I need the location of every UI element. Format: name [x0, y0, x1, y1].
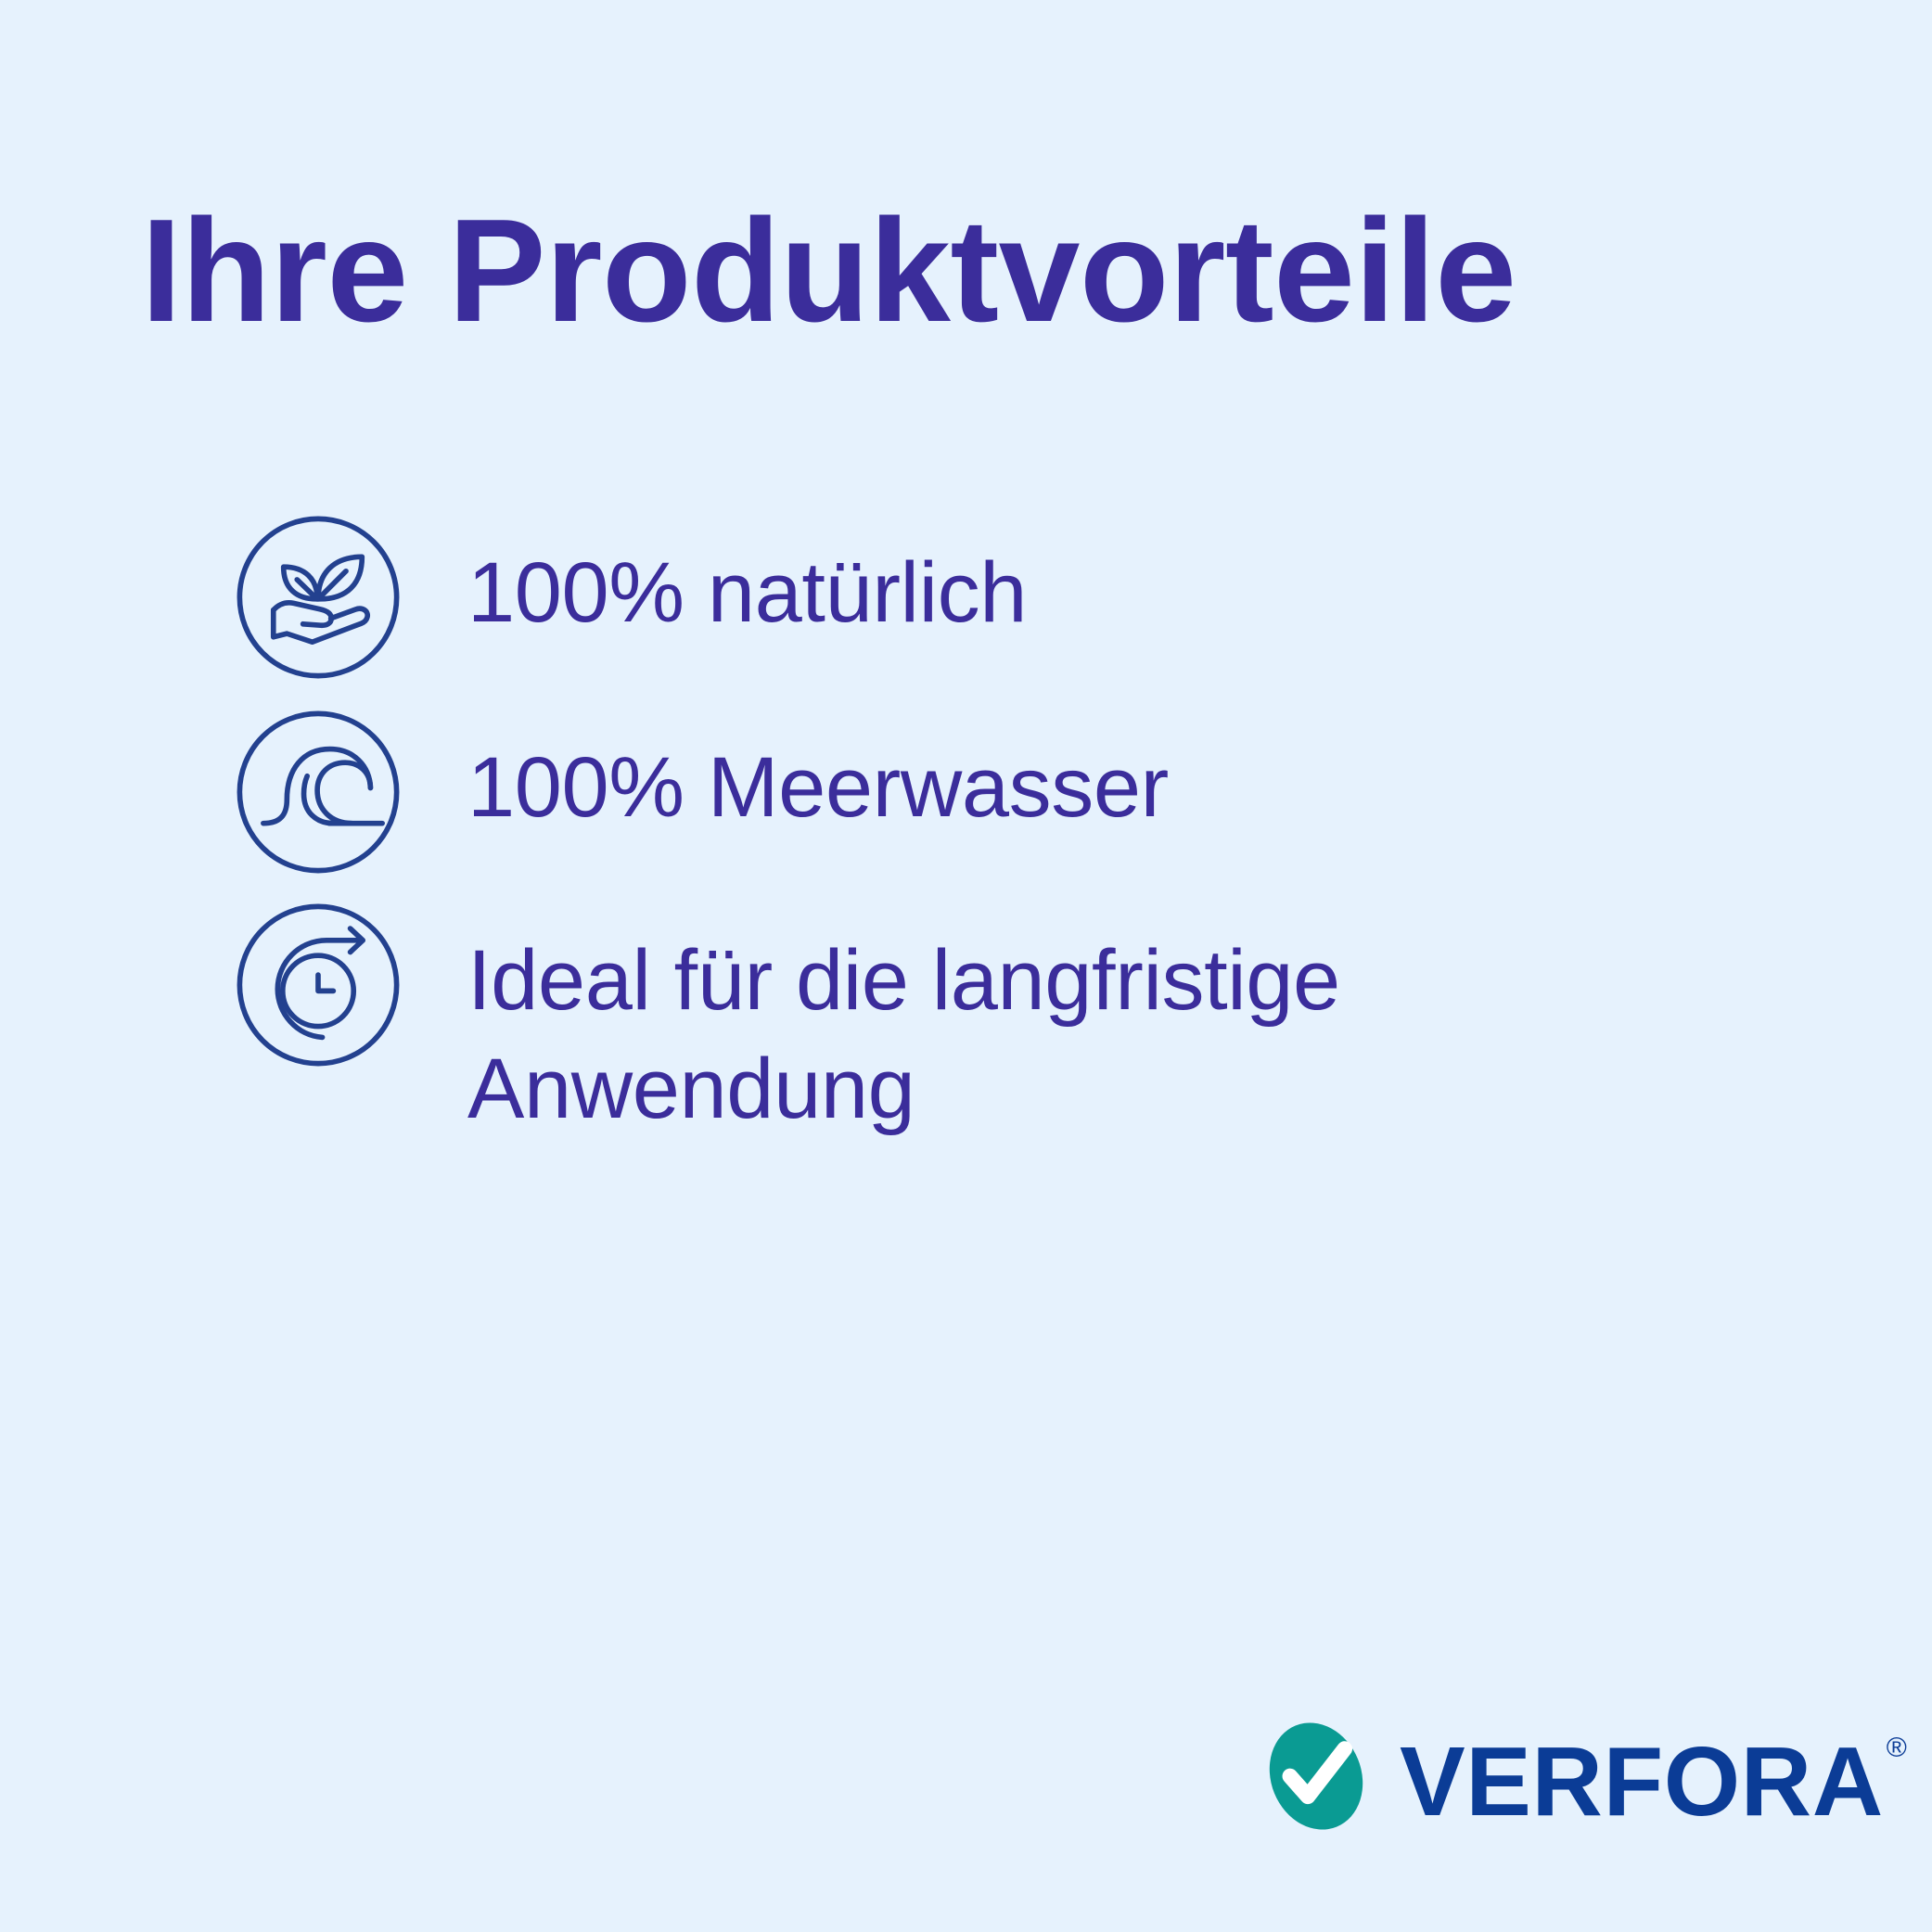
product-benefits-card: Ihre Produktvorteile 10 — [0, 0, 1932, 1932]
registered-trademark-symbol: ® — [1887, 1734, 1907, 1762]
benefit-item-seawater: 100% Meerwasser — [234, 708, 1625, 876]
verfora-logo: VERFORA ® — [1257, 1717, 1904, 1836]
hand-holding-plant-icon — [234, 513, 403, 682]
benefit-item-natural: 100% natürlich — [234, 513, 1625, 682]
benefit-label: 100% Meerwasser — [467, 708, 1516, 842]
benefit-label: 100% natürlich — [467, 513, 1516, 647]
logo-text: VERFORA — [1400, 1733, 1884, 1831]
page-title: Ihre Produktvorteile — [141, 195, 1516, 349]
ocean-wave-icon — [234, 708, 403, 876]
check-ellipse-icon — [1257, 1717, 1375, 1836]
clock-rotate-arrow-icon — [234, 901, 403, 1069]
logo-wordmark: VERFORA ® — [1400, 1727, 1904, 1825]
benefit-label: Ideal für die langfristige Anwendung — [467, 901, 1516, 1144]
benefit-item-long-term-use: Ideal für die langfristige Anwendung — [234, 901, 1625, 1144]
benefits-list: 100% natürlich 100% Meerwasser — [234, 513, 1625, 1144]
